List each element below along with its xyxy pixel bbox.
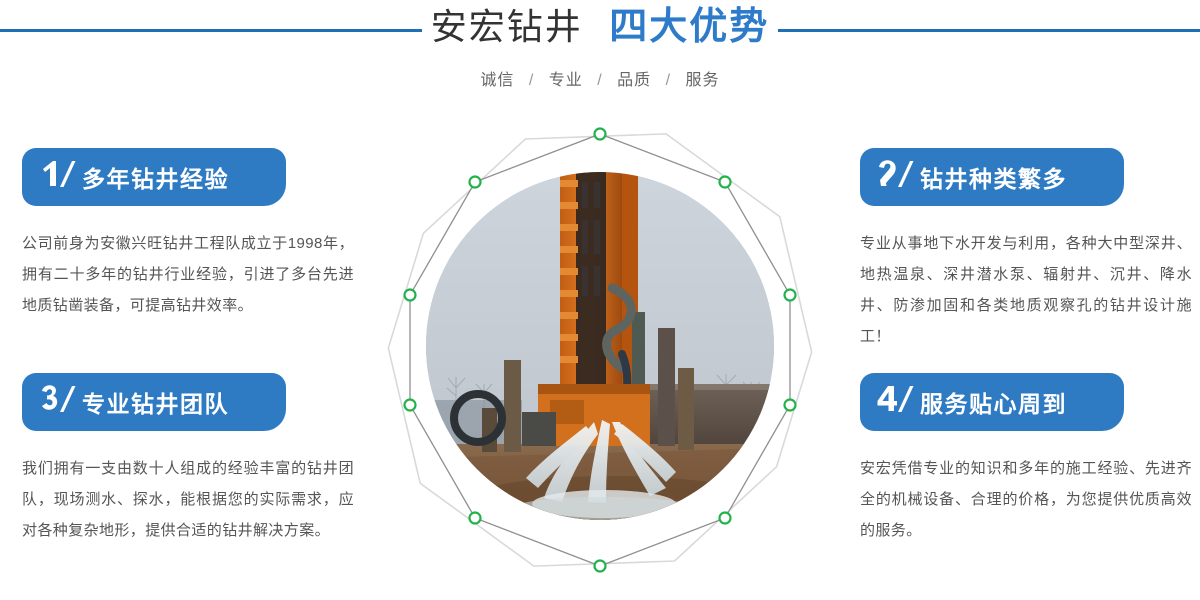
ring-node <box>785 400 796 411</box>
ring-node <box>720 177 731 188</box>
subtitle-item-1: 诚信 <box>480 72 514 89</box>
feature-card-2: 钻井种类繁多 专业从事地下水开发与利用，各种大中型深井、地热温泉、深井潜水泵、辐… <box>860 148 1200 352</box>
feature-title-2: 钻井种类繁多 <box>920 160 1067 194</box>
feature-title-1: 多年钻井经验 <box>82 160 229 194</box>
feature-body-1: 公司前身为安徽兴旺钻井工程队成立于1998年，拥有二十多年的钻井行业经验，引进了… <box>22 228 354 321</box>
ring-node <box>470 513 481 524</box>
feature-body-2: 专业从事地下水开发与利用，各种大中型深井、地热温泉、深井潜水泵、辐射井、沉井、降… <box>860 228 1192 352</box>
subtitle-item-2: 专业 <box>549 72 583 89</box>
feature-card-4: 服务贴心周到 安宏凭借专业的知识和多年的施工经验、先进齐全的机械设备、合理的价格… <box>860 373 1200 546</box>
feature-title-3: 专业钻井团队 <box>82 385 229 419</box>
feature-badge-4[interactable]: 服务贴心周到 <box>860 373 1124 431</box>
subtitle-separator: / <box>666 72 671 89</box>
number-1-icon <box>36 156 80 198</box>
ring-node <box>405 400 416 411</box>
ring-node <box>595 129 606 140</box>
title-main: 安宏钻井 <box>431 6 583 47</box>
feature-title-4: 服务贴心周到 <box>920 385 1067 419</box>
drilling-rig-photo <box>426 172 774 520</box>
subtitle-separator: / <box>597 72 602 89</box>
number-3-icon <box>36 381 80 423</box>
page-root: 安宏钻井 四大优势 诚信 / 专业 / 品质 / 服务 多年钻井经验 公司前身为… <box>0 0 1200 600</box>
subtitle-separator: / <box>529 72 534 89</box>
feature-body-4: 安宏凭借专业的知识和多年的施工经验、先进齐全的机械设备、合理的价格，为您提供优质… <box>860 453 1192 546</box>
ring-node <box>720 513 731 524</box>
page-title: 安宏钻井 四大优势 <box>0 8 1200 46</box>
feature-badge-1[interactable]: 多年钻井经验 <box>22 148 286 206</box>
feature-card-1: 多年钻井经验 公司前身为安徽兴旺钻井工程队成立于1998年，拥有二十多年的钻井行… <box>22 148 362 321</box>
ring-node <box>405 290 416 301</box>
ring-node <box>595 561 606 572</box>
number-4-icon <box>874 381 918 423</box>
center-graphic <box>370 110 830 590</box>
feature-badge-2[interactable]: 钻井种类繁多 <box>860 148 1124 206</box>
ring-node <box>470 177 481 188</box>
subtitle-item-3: 品质 <box>617 72 651 89</box>
feature-badge-3[interactable]: 专业钻井团队 <box>22 373 286 431</box>
title-accent: 四大优势 <box>609 6 769 48</box>
header-subtitle: 诚信 / 专业 / 品质 / 服务 <box>0 66 1200 90</box>
feature-body-3: 我们拥有一支由数十人组成的经验丰富的钻井团队，现场测水、探水，能根据您的实际需求… <box>22 453 354 546</box>
page-header: 安宏钻井 四大优势 诚信 / 专业 / 品质 / 服务 <box>0 0 1200 115</box>
subtitle-item-4: 服务 <box>686 72 720 89</box>
ring-node <box>785 290 796 301</box>
feature-card-3: 专业钻井团队 我们拥有一支由数十人组成的经验丰富的钻井团队，现场测水、探水，能根… <box>22 373 362 546</box>
number-2-icon <box>874 156 918 198</box>
